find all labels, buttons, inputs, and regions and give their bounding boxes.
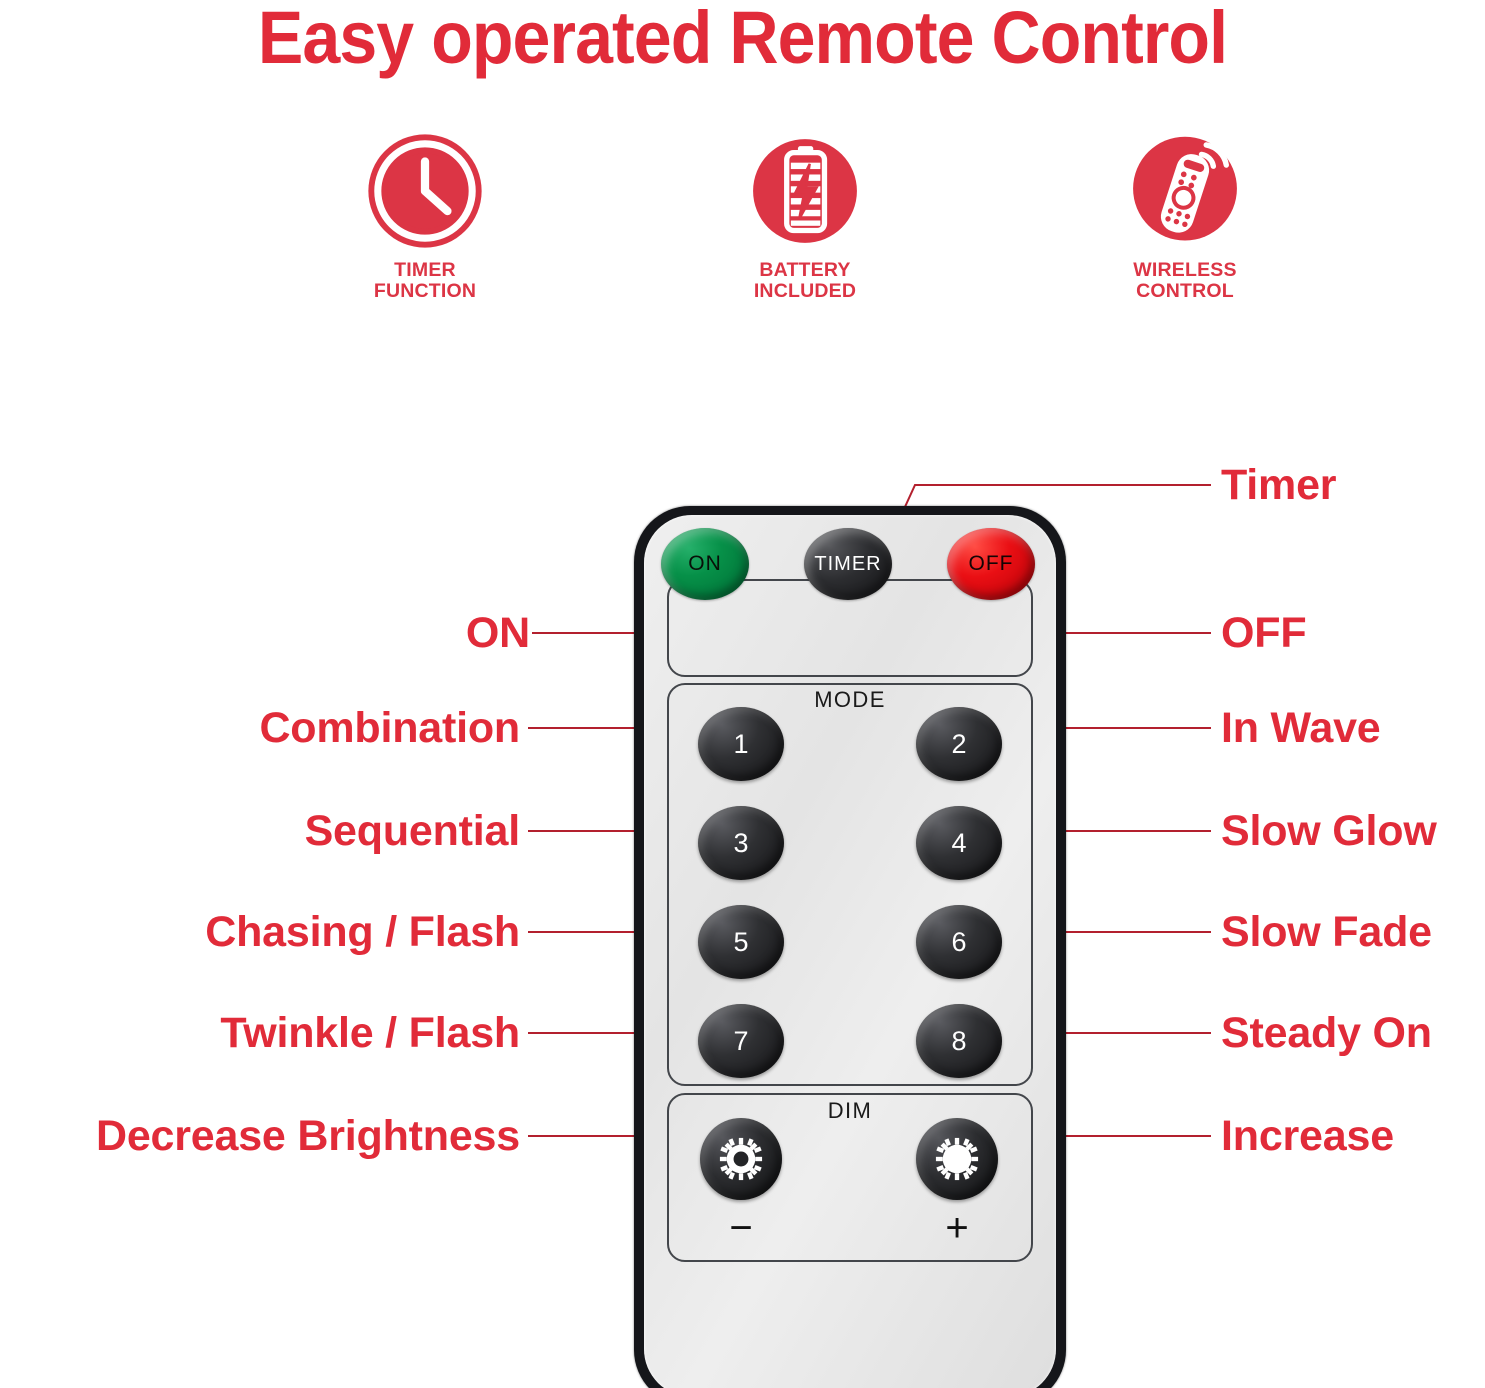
callout-chasing-flash: Chasing / Flash — [80, 909, 520, 955]
feature-highlights: TIMER FUNCTION BATTERY INCLUDED — [300, 132, 1310, 322]
dim-decrease-button[interactable] — [700, 1118, 782, 1200]
feature-caption-line1: WIRELESS — [1133, 259, 1236, 281]
feature-caption: TIMER FUNCTION — [374, 260, 476, 302]
remote-signal-icon — [1126, 132, 1244, 250]
mode-button-2[interactable]: 2 — [916, 707, 1002, 781]
callout-steady-on: Steady On — [1221, 1010, 1432, 1056]
callout-twinkle-flash: Twinkle / Flash — [80, 1010, 520, 1056]
off-button[interactable]: OFF — [947, 528, 1035, 600]
brightness-low-icon — [710, 1128, 772, 1190]
callout-decrease-brightness: Decrease Brightness — [8, 1113, 520, 1159]
mode-button-7[interactable]: 7 — [698, 1004, 784, 1078]
callout-slow-glow: Slow Glow — [1221, 808, 1437, 854]
on-button[interactable]: ON — [661, 528, 749, 600]
feature-caption: BATTERY INCLUDED — [754, 260, 856, 302]
clock-icon — [366, 132, 484, 250]
dim-increase-sign: + — [916, 1208, 998, 1248]
callout-in-wave: In Wave — [1221, 705, 1381, 751]
mode-button-3[interactable]: 3 — [698, 806, 784, 880]
feature-caption-line1: BATTERY — [759, 259, 850, 281]
timer-button[interactable]: TIMER — [804, 528, 892, 600]
brightness-high-icon — [926, 1128, 988, 1190]
callout-combination: Combination — [100, 705, 520, 751]
feature-caption-line2: FUNCTION — [374, 280, 476, 302]
feature-timer-function: TIMER FUNCTION — [300, 132, 550, 302]
callout-slow-fade: Slow Fade — [1221, 909, 1432, 955]
dim-panel-label: DIM — [644, 1098, 1056, 1124]
page-title: Easy operated Remote Control — [59, 0, 1425, 80]
feature-caption-line2: CONTROL — [1136, 280, 1234, 302]
mode-button-1[interactable]: 1 — [698, 707, 784, 781]
feature-caption-line1: TIMER — [394, 259, 456, 281]
remote-faceplate: MODE DIM ON TIMER OFF 1 2 3 4 5 6 7 8 — [644, 515, 1056, 1388]
callout-timer: Timer — [1221, 462, 1336, 508]
feature-caption: WIRELESS CONTROL — [1133, 260, 1236, 302]
dim-increase-button[interactable] — [916, 1118, 998, 1200]
feature-battery-included: BATTERY INCLUDED — [680, 132, 930, 302]
dim-decrease-sign: − — [700, 1208, 782, 1248]
mode-button-8[interactable]: 8 — [916, 1004, 1002, 1078]
infographic-page: Easy operated Remote Control TIMER FUNCT… — [0, 0, 1485, 1388]
mode-button-4[interactable]: 4 — [916, 806, 1002, 880]
feature-caption-line2: INCLUDED — [754, 280, 856, 302]
mode-button-5[interactable]: 5 — [698, 905, 784, 979]
callout-off: OFF — [1221, 610, 1306, 656]
mode-panel-label: MODE — [644, 687, 1056, 713]
callout-sequential: Sequential — [100, 808, 520, 854]
feature-wireless-control: WIRELESS CONTROL — [1060, 132, 1310, 302]
battery-icon — [746, 132, 864, 250]
callout-increase: Increase — [1221, 1113, 1394, 1159]
callout-on: ON — [230, 610, 530, 656]
remote-control-device: MODE DIM ON TIMER OFF 1 2 3 4 5 6 7 8 — [634, 506, 1066, 1388]
mode-button-6[interactable]: 6 — [916, 905, 1002, 979]
